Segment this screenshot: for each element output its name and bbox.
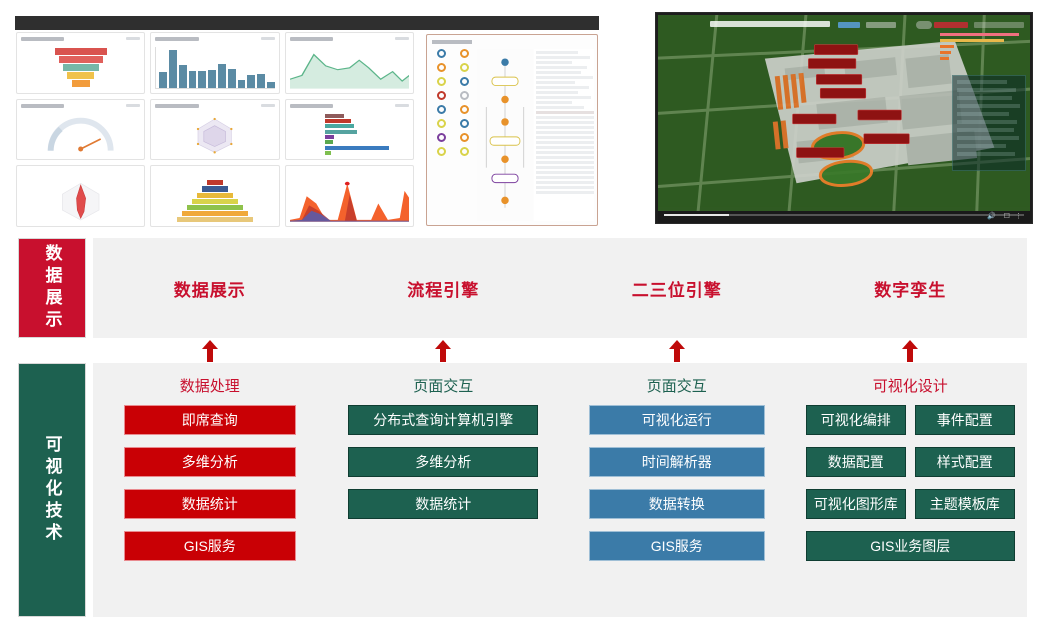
data-display-columns: 数据展示 流程引擎 二三位引擎 数字孪生 — [93, 238, 1027, 338]
display-column-2: 流程引擎 — [327, 276, 561, 301]
card-actions-icon — [126, 37, 140, 40]
display-column-4: 数字孪生 — [794, 276, 1028, 301]
display-column-1-label: 数据展示 — [174, 281, 246, 300]
tech-box[interactable]: 即席查询 — [124, 405, 296, 435]
card-title-bar — [290, 104, 333, 108]
legend-row — [940, 51, 951, 54]
flow-properties-panel[interactable] — [534, 49, 594, 221]
display-column-3: 二三位引擎 — [560, 276, 794, 301]
tech-box[interactable]: 可视化运行 — [589, 405, 765, 435]
up-arrow-icon — [435, 340, 451, 362]
tech-box[interactable]: 数据统计 — [348, 489, 538, 519]
more-options-icon[interactable]: ⋮ — [1015, 211, 1022, 223]
chart-card-pyramid — [150, 165, 279, 227]
workflow-designer-panel — [426, 34, 598, 226]
tech-box[interactable]: 多维分析 — [124, 447, 296, 477]
flow-canvas[interactable] — [477, 49, 533, 221]
tech-column-page-interaction-blue: 页面交互 可视化运行 时间解析器 数据转换 GIS服务 — [560, 375, 794, 607]
card-actions-icon — [395, 37, 409, 40]
map-legend — [940, 33, 1026, 69]
chart-card-funnel — [16, 32, 145, 94]
horizontal-bar-chart — [290, 114, 409, 156]
multi-area-chart — [290, 180, 409, 222]
tech-box[interactable]: 主题模板库 — [915, 489, 1015, 519]
video-progress-bar[interactable] — [664, 214, 1024, 216]
bar-chart — [155, 47, 274, 89]
up-arrow-icon — [669, 340, 685, 362]
tech-column-3-header: 页面交互 — [647, 375, 707, 396]
pyramid-chart — [155, 180, 274, 222]
chart-card-multi-area — [285, 165, 414, 227]
tech-column-4-header: 可视化设计 — [873, 375, 948, 396]
tech-column-data-processing: 数据处理 即席查询 多维分析 数据统计 GIS服务 — [93, 375, 327, 607]
tech-column-page-interaction-green: 页面交互 分布式查询计算机引擎 多维分析 数据统计 — [327, 375, 561, 607]
card-actions-icon — [261, 37, 275, 40]
tech-box[interactable]: GIS服务 — [589, 531, 765, 561]
tech-box-pair-row: 可视化图形库 主题模板库 — [794, 489, 1028, 519]
area-line-chart — [290, 47, 409, 89]
tech-box[interactable]: GIS服务 — [124, 531, 296, 561]
map-alert-chip[interactable] — [934, 22, 968, 28]
card-title-bar — [290, 37, 333, 41]
tech-box[interactable]: 数据统计 — [124, 489, 296, 519]
card-title-bar — [155, 37, 198, 41]
dashboard-chart-grid — [16, 32, 414, 227]
tech-box[interactable]: 事件配置 — [915, 405, 1015, 435]
chart-card-radar — [150, 99, 279, 161]
funnel-chart — [21, 47, 140, 89]
tech-box[interactable]: 时间解析器 — [589, 447, 765, 477]
tech-column-visualization-design: 可视化设计 可视化编排 事件配置 数据配置 样式配置 可视化图形库 主题模板库 … — [794, 375, 1028, 607]
volume-icon[interactable]: 🔊 — [987, 211, 996, 223]
tech-box[interactable]: 数据转换 — [589, 489, 765, 519]
chart-card-gauge — [16, 99, 145, 161]
display-column-4-label: 数字孪生 — [874, 281, 946, 300]
tech-box[interactable]: 可视化编排 — [806, 405, 906, 435]
fullscreen-icon[interactable]: ☐ — [1004, 211, 1010, 223]
tech-box-pair-row: 可视化编排 事件配置 — [794, 405, 1028, 435]
tech-column-2-boxes: 分布式查询计算机引擎 多维分析 数据统计 — [327, 405, 561, 519]
up-arrow-icon — [202, 340, 218, 362]
video-player-controls[interactable]: 🔊 ☐ ⋮ — [658, 211, 1030, 223]
visualization-tech-band: 可视化技术 数据处理 即席查询 多维分析 数据统计 GIS服务 页面交互 分布式… — [0, 363, 1051, 617]
arrow-row — [93, 338, 1027, 363]
slide-root: 🔊 ☐ ⋮ 数据展示 数据展示 流程引擎 二三位引擎 数字孪生 — [0, 0, 1051, 636]
card-actions-icon — [126, 104, 140, 107]
card-title-bar — [21, 37, 64, 41]
chart-card-area-line — [285, 32, 414, 94]
display-column-3-label: 二三位引擎 — [632, 281, 722, 300]
dashboard-topbar — [15, 16, 599, 30]
map-title-bar — [710, 21, 830, 27]
display-column-2-label: 流程引擎 — [407, 281, 479, 300]
flow-node-palette[interactable] — [431, 49, 475, 221]
sidebar-data-display-label: 数据展示 — [40, 244, 65, 332]
legend-row — [940, 33, 1019, 36]
display-column-1: 数据展示 — [93, 276, 327, 301]
chart-card-radar-fill — [16, 165, 145, 227]
tech-column-1-header: 数据处理 — [180, 375, 240, 396]
radar-chart — [155, 114, 274, 156]
tech-box[interactable]: 数据配置 — [806, 447, 906, 477]
tech-box-pair-row: 数据配置 样式配置 — [794, 447, 1028, 477]
dashboard-body — [13, 32, 601, 227]
gauge-chart — [21, 114, 140, 156]
tech-column-3-boxes: 可视化运行 时间解析器 数据转换 GIS服务 — [560, 405, 794, 561]
sidebar-visualization-tech: 可视化技术 — [18, 363, 86, 617]
map-scene[interactable] — [658, 15, 1030, 211]
up-arrow-icon — [902, 340, 918, 362]
card-actions-icon — [261, 104, 275, 107]
chart-card-hbar — [285, 99, 414, 161]
legend-row — [940, 57, 949, 60]
legend-row — [940, 45, 954, 48]
map-search-chip[interactable] — [916, 21, 932, 29]
digital-twin-campus-map: 🔊 ☐ ⋮ — [655, 12, 1033, 224]
legend-row — [940, 39, 1004, 42]
card-title-bar — [21, 104, 64, 108]
map-breadcrumb-chip[interactable] — [838, 22, 860, 28]
map-device-list-panel[interactable] — [952, 75, 1026, 171]
tech-box[interactable]: GIS业务图层 — [806, 531, 1015, 561]
tech-box[interactable]: 多维分析 — [348, 447, 538, 477]
sidebar-visualization-tech-label: 可视化技术 — [40, 435, 65, 545]
tech-column-1-boxes: 即席查询 多维分析 数据统计 GIS服务 — [93, 405, 327, 561]
tech-column-2-header: 页面交互 — [413, 375, 473, 396]
arrow-cell-1 — [93, 338, 327, 363]
tech-column-4-boxes: 可视化编排 事件配置 数据配置 样式配置 可视化图形库 主题模板库 GIS业务图… — [794, 405, 1028, 561]
chart-card-bar — [150, 32, 279, 94]
map-datetime-chip — [974, 22, 1024, 28]
map-nav-chip[interactable] — [866, 22, 896, 28]
arrow-cell-4 — [794, 338, 1028, 363]
data-display-band: 数据展示 数据展示 流程引擎 二三位引擎 数字孪生 — [0, 238, 1051, 338]
card-actions-icon — [395, 104, 409, 107]
arrow-cell-3 — [560, 338, 794, 363]
tech-columns: 数据处理 即席查询 多维分析 数据统计 GIS服务 页面交互 分布式查询计算机引… — [93, 363, 1027, 617]
tech-box[interactable]: 分布式查询计算机引擎 — [348, 405, 538, 435]
sidebar-data-display: 数据展示 — [18, 238, 86, 338]
radar-fill-chart — [21, 180, 140, 222]
tech-box[interactable]: 样式配置 — [915, 447, 1015, 477]
card-title-bar — [155, 104, 198, 108]
tech-box[interactable]: 可视化图形库 — [806, 489, 906, 519]
arrow-cell-2 — [327, 338, 561, 363]
bi-dashboard-screenshot — [13, 14, 601, 227]
